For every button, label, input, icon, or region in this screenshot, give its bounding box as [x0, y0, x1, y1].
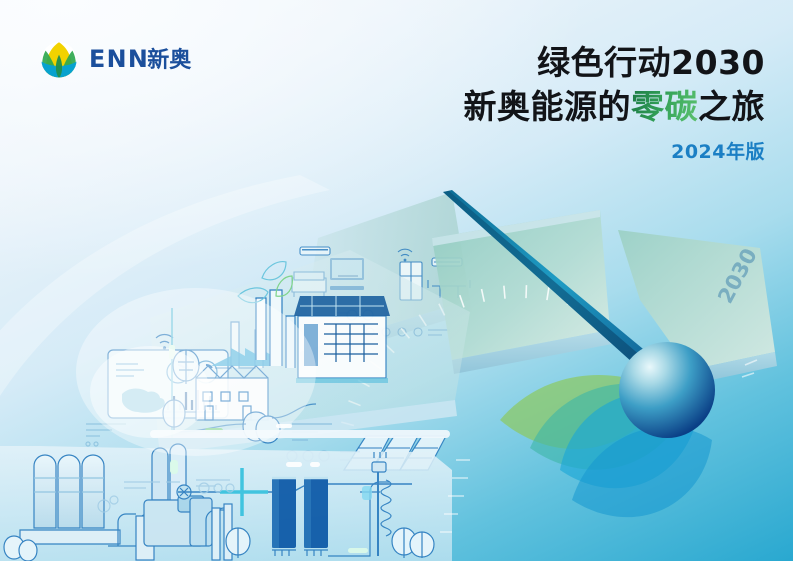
svg-text:ENN: ENN [89, 45, 149, 73]
edition-subtitle: 2024年版 [464, 137, 766, 164]
svg-text:新奥: 新奥 [147, 47, 192, 73]
gauge-hub [619, 342, 715, 438]
title-highlight: 零碳 [631, 87, 698, 126]
title-prefix: 新奥能源的 [464, 87, 632, 126]
storage-tank [34, 455, 104, 528]
title-line-1: 绿色行动2030 [464, 42, 766, 84]
title-block: 绿色行动2030 新奥能源的零碳之旅 2024年版 [464, 42, 766, 164]
cover-page: 2030 [0, 0, 793, 561]
enn-logo[interactable]: ENN 新奥 [38, 38, 221, 80]
enn-wordmark: ENN 新奥 [89, 44, 221, 74]
title-suffix: 之旅 [698, 87, 765, 126]
cover-header: ENN 新奥 绿色行动2030 新奥能源的零碳之旅 2024年版 [0, 0, 793, 175]
enn-flower-logo-icon [38, 38, 80, 80]
title-line-2: 新奥能源的零碳之旅 [464, 86, 766, 128]
